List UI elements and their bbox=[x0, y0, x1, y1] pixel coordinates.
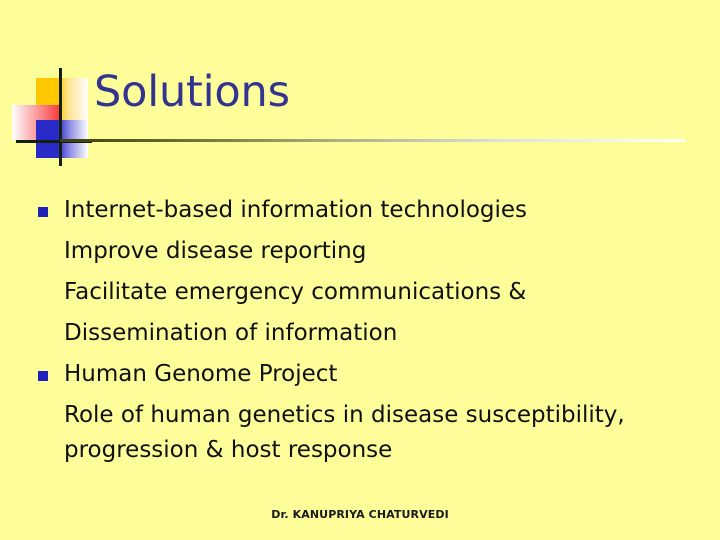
sub-line: Dissemination of information bbox=[36, 313, 686, 354]
bullet-square-icon bbox=[38, 207, 48, 217]
sub-line-label: Improve disease reporting bbox=[36, 231, 366, 272]
sub-line-label: Role of human genetics in disease suscep… bbox=[36, 395, 625, 436]
bullet-item-label: Human Genome Project bbox=[36, 354, 337, 395]
bullet-item: Human Genome Project bbox=[36, 354, 686, 395]
bullet-square-icon bbox=[38, 371, 48, 381]
sub-line: Role of human genetics in disease suscep… bbox=[36, 395, 686, 433]
bullet-item-label: Internet-based information technologies bbox=[36, 190, 527, 231]
bullet-item: Internet-based information technologies bbox=[36, 190, 686, 231]
sub-line-continued: progression & host response bbox=[36, 433, 686, 467]
slide-body: Internet-based information technologies … bbox=[36, 190, 686, 467]
page-title: Solutions bbox=[94, 69, 290, 116]
title-divider-rule bbox=[60, 139, 685, 142]
slide-canvas: Solutions Internet-based information tec… bbox=[0, 0, 720, 540]
decoration-vertical-line bbox=[59, 68, 62, 166]
sub-line: Facilitate emergency communications & bbox=[36, 272, 686, 313]
sub-line: Improve disease reporting bbox=[36, 231, 686, 272]
sub-line-label: Dissemination of information bbox=[36, 313, 397, 354]
sub-line-label: progression & host response bbox=[36, 433, 392, 467]
sub-line-label: Facilitate emergency communications & bbox=[36, 272, 526, 313]
footer-credit: Dr. KANUPRIYA CHATURVEDI bbox=[0, 508, 720, 521]
